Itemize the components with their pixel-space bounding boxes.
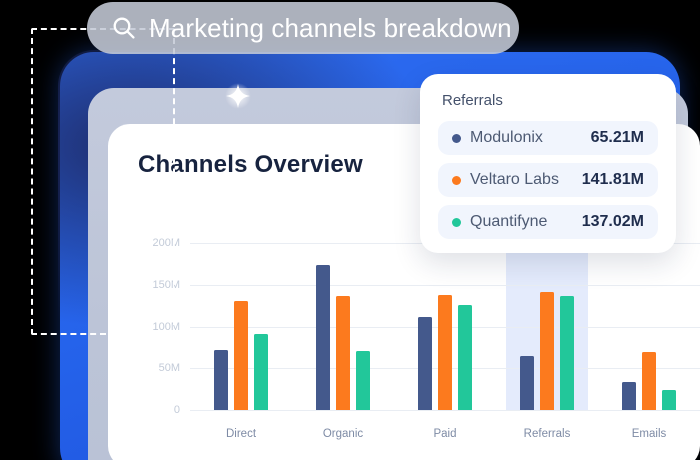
bar[interactable]	[356, 351, 370, 410]
x-axis-tick-label: Paid	[433, 428, 456, 440]
bar[interactable]	[234, 301, 248, 410]
tooltip-series-value: 141.81M	[582, 171, 644, 189]
tooltip-row: Modulonix65.21M	[438, 121, 658, 155]
tooltip-series-name: Veltaro Labs	[470, 171, 572, 189]
series-color-dot-icon	[452, 134, 461, 143]
tooltip-series-value: 137.02M	[582, 213, 644, 231]
chart-tooltip: Referrals Modulonix65.21MVeltaro Labs141…	[420, 74, 676, 253]
bar[interactable]	[540, 292, 554, 410]
search-query-text: Marketing channels breakdown	[149, 13, 512, 44]
bar[interactable]	[560, 296, 574, 410]
bar[interactable]	[438, 295, 452, 410]
bar[interactable]	[642, 352, 656, 410]
search-icon	[111, 15, 137, 41]
bar[interactable]	[214, 350, 228, 410]
bar[interactable]	[520, 356, 534, 410]
search-bar[interactable]: Marketing channels breakdown	[87, 2, 519, 54]
bar[interactable]	[418, 317, 432, 410]
tooltip-series-value: 65.21M	[591, 129, 644, 147]
tooltip-series-name: Quantifyne	[470, 213, 572, 231]
bar[interactable]	[662, 390, 676, 410]
bar[interactable]	[254, 334, 268, 410]
tooltip-row: Quantifyne137.02M	[438, 205, 658, 239]
selection-rectangle[interactable]	[31, 28, 175, 335]
tooltip-series-name: Modulonix	[470, 129, 581, 147]
tooltip-row: Veltaro Labs141.81M	[438, 163, 658, 197]
x-axis-tick-label: Organic	[323, 428, 363, 440]
series-color-dot-icon	[452, 176, 461, 185]
x-axis-tick-label: Direct	[226, 428, 256, 440]
series-color-dot-icon	[452, 218, 461, 227]
bar[interactable]	[458, 305, 472, 410]
x-axis-tick-label: Referrals	[524, 428, 571, 440]
bar[interactable]	[336, 296, 350, 410]
screenshot-stage: Channels Overview 050M100M150M200M Direc…	[0, 0, 700, 460]
bar[interactable]	[316, 265, 330, 410]
bar[interactable]	[622, 382, 636, 410]
x-axis-tick-label: Emails	[632, 428, 667, 440]
tooltip-title: Referrals	[442, 92, 658, 109]
